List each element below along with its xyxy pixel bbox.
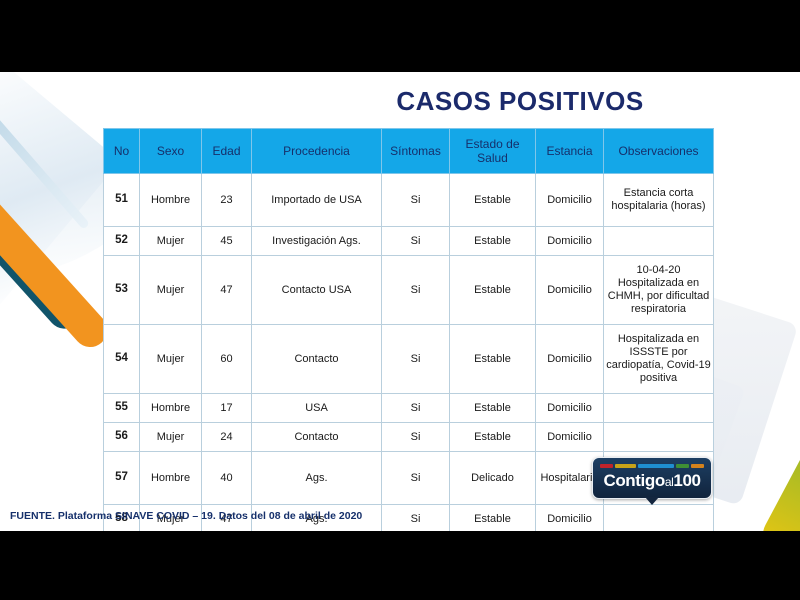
cell-edad: 45	[202, 227, 252, 256]
cell-estado-salud: Estable	[450, 325, 536, 394]
cell-sintomas: Si	[382, 452, 450, 505]
source-note: FUENTE. Plataforma SINAVE COVID – 19. Da…	[10, 510, 362, 522]
cell-estancia: Domicilio	[536, 256, 604, 325]
cell-estancia: Domicilio	[536, 227, 604, 256]
cell-edad: 17	[202, 394, 252, 423]
cell-sintomas: Si	[382, 505, 450, 532]
table-row: 53 Mujer 47 Contacto USA Si Estable Domi…	[104, 256, 714, 325]
letterbox-bottom	[0, 531, 800, 600]
cell-procedencia: Contacto	[252, 325, 382, 394]
cell-procedencia: Importado de USA	[252, 174, 382, 227]
cell-observaciones	[604, 505, 714, 532]
cell-sexo: Hombre	[140, 452, 202, 505]
cell-sintomas: Si	[382, 423, 450, 452]
cell-observaciones: Estancia corta hospitalaria (horas)	[604, 174, 714, 227]
cell-estado-salud: Estable	[450, 394, 536, 423]
cell-procedencia: Contacto USA	[252, 256, 382, 325]
cell-sexo: Hombre	[140, 394, 202, 423]
letterbox-top	[0, 0, 800, 72]
cell-estado-salud: Estable	[450, 227, 536, 256]
table-header: No Sexo Edad Procedencia Síntomas Estado…	[104, 129, 714, 174]
column-header-sexo: Sexo	[140, 129, 202, 174]
column-header-estancia: Estancia	[536, 129, 604, 174]
cell-sintomas: Si	[382, 174, 450, 227]
cell-no: 57	[104, 452, 140, 505]
cell-edad: 24	[202, 423, 252, 452]
table-row: 54 Mujer 60 Contacto Si Estable Domicili…	[104, 325, 714, 394]
cell-procedencia: USA	[252, 394, 382, 423]
logo-text: Contigoal100	[593, 471, 711, 491]
table-header-row: No Sexo Edad Procedencia Síntomas Estado…	[104, 129, 714, 174]
cell-procedencia: Investigación Ags.	[252, 227, 382, 256]
cell-no: 52	[104, 227, 140, 256]
column-header-sintomas: Síntomas	[382, 129, 450, 174]
cell-estancia: Domicilio	[536, 423, 604, 452]
logo-text-main: Contigo	[603, 471, 664, 490]
cell-observaciones	[604, 394, 714, 423]
column-header-estado-salud: Estado de Salud	[450, 129, 536, 174]
cell-sintomas: Si	[382, 394, 450, 423]
cell-estancia: Domicilio	[536, 174, 604, 227]
logo-bar-green	[676, 464, 690, 468]
logo-text-number: 100	[673, 471, 700, 490]
cell-sintomas: Si	[382, 256, 450, 325]
screen: CASOS POSITIVOS No Sexo Edad Procedencia…	[0, 0, 800, 600]
cell-estancia: Domicilio	[536, 394, 604, 423]
cell-edad: 23	[202, 174, 252, 227]
cell-no: 53	[104, 256, 140, 325]
page-title: CASOS POSITIVOS	[355, 86, 685, 117]
table-row: 51 Hombre 23 Importado de USA Si Estable…	[104, 174, 714, 227]
decorative-bar-orange	[0, 179, 114, 354]
slide-canvas: CASOS POSITIVOS No Sexo Edad Procedencia…	[0, 72, 800, 531]
cell-sexo: Mujer	[140, 256, 202, 325]
cell-estancia: Domicilio	[536, 505, 604, 532]
cell-estancia: Domicilio	[536, 325, 604, 394]
decorative-wedge-right-shadow	[775, 380, 800, 531]
cell-estado-salud: Delicado	[450, 452, 536, 505]
column-header-edad: Edad	[202, 129, 252, 174]
cell-sintomas: Si	[382, 325, 450, 394]
cell-edad: 40	[202, 452, 252, 505]
column-header-observaciones: Observaciones	[604, 129, 714, 174]
cell-observaciones: 10-04-20 Hospitalizada en CHMH, por difi…	[604, 256, 714, 325]
cell-observaciones	[604, 227, 714, 256]
cell-estado-salud: Estable	[450, 423, 536, 452]
logo-bar-blue	[638, 464, 673, 468]
table-row: 56 Mujer 24 Contacto Si Estable Domicili…	[104, 423, 714, 452]
column-header-procedencia: Procedencia	[252, 129, 382, 174]
cell-sintomas: Si	[382, 227, 450, 256]
cell-procedencia: Contacto	[252, 423, 382, 452]
cell-no: 54	[104, 325, 140, 394]
decorative-wedge-right	[755, 355, 800, 531]
decorative-line-left	[0, 99, 90, 229]
cell-observaciones: Hospitalizada en ISSSTE por cardiopatía,…	[604, 325, 714, 394]
table-row: 52 Mujer 45 Investigación Ags. Si Establ…	[104, 227, 714, 256]
cell-edad: 60	[202, 325, 252, 394]
cell-no: 56	[104, 423, 140, 452]
cell-procedencia: Ags.	[252, 452, 382, 505]
cell-sexo: Mujer	[140, 423, 202, 452]
table-row: 55 Hombre 17 USA Si Estable Domicilio	[104, 394, 714, 423]
cell-estado-salud: Estable	[450, 256, 536, 325]
contigo-al-100-logo: Contigoal100	[592, 457, 712, 499]
cell-no: 55	[104, 394, 140, 423]
logo-bar-orange	[691, 464, 704, 468]
column-header-no: No	[104, 129, 140, 174]
cell-estado-salud: Estable	[450, 174, 536, 227]
decorative-bar-teal	[0, 164, 89, 335]
cell-no: 51	[104, 174, 140, 227]
cell-observaciones	[604, 423, 714, 452]
logo-bar-yellow	[615, 464, 637, 468]
cell-edad: 47	[202, 256, 252, 325]
cell-sexo: Hombre	[140, 174, 202, 227]
logo-bar-red	[600, 464, 613, 468]
logo-color-bars	[600, 464, 704, 468]
cell-sexo: Mujer	[140, 325, 202, 394]
cell-estado-salud: Estable	[450, 505, 536, 532]
cell-sexo: Mujer	[140, 227, 202, 256]
